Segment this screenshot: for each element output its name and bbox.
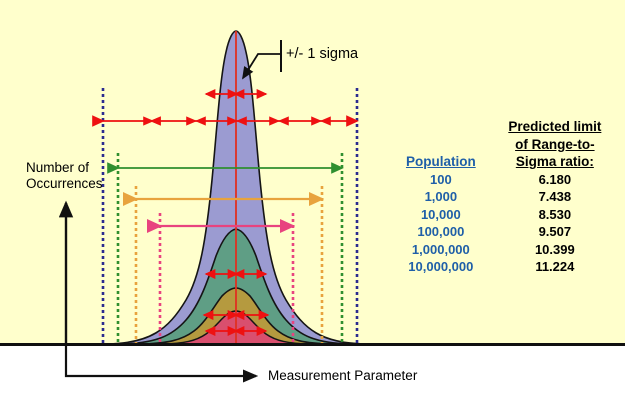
sigma-annotation-label: +/- 1 sigma [286, 47, 358, 62]
table-header-row: Population Predicted limit of Range-to- … [392, 118, 620, 171]
cell-ratio: 8.530 [490, 206, 620, 224]
y-axis-label: Number of Occurrences [26, 160, 103, 192]
table-row: 10,000 8.530 [392, 206, 620, 224]
table-header-ratio: Predicted limit of Range-to- Sigma ratio… [508, 119, 601, 169]
cell-ratio: 7.438 [490, 188, 620, 206]
cell-population: 1,000,000 [392, 241, 490, 259]
table-header-population: Population [406, 154, 476, 169]
ratio-table-element: Population Predicted limit of Range-to- … [392, 118, 620, 276]
predicted-limit-table: Population Predicted limit of Range-to- … [392, 118, 620, 276]
cell-ratio: 10.399 [490, 241, 620, 259]
cell-population: 100,000 [392, 223, 490, 241]
table-row: 100 6.180 [392, 171, 620, 189]
x-axis-label: Measurement Parameter [268, 368, 417, 383]
cell-population: 100 [392, 171, 490, 189]
cell-population: 10,000 [392, 206, 490, 224]
table-row: 10,000,000 11.224 [392, 258, 620, 276]
figure-root: Number of Occurrences Measurement Parame… [0, 0, 625, 417]
cell-ratio: 6.180 [490, 171, 620, 189]
range-span-blue [103, 118, 357, 125]
table-row: 1,000 7.438 [392, 188, 620, 206]
cell-population: 1,000 [392, 188, 490, 206]
x-axis-arrow [66, 345, 256, 376]
cell-ratio: 11.224 [490, 258, 620, 276]
table-row: 1,000,000 10.399 [392, 241, 620, 259]
cell-population: 10,000,000 [392, 258, 490, 276]
table-row: 100,000 9.507 [392, 223, 620, 241]
cell-ratio: 9.507 [490, 223, 620, 241]
